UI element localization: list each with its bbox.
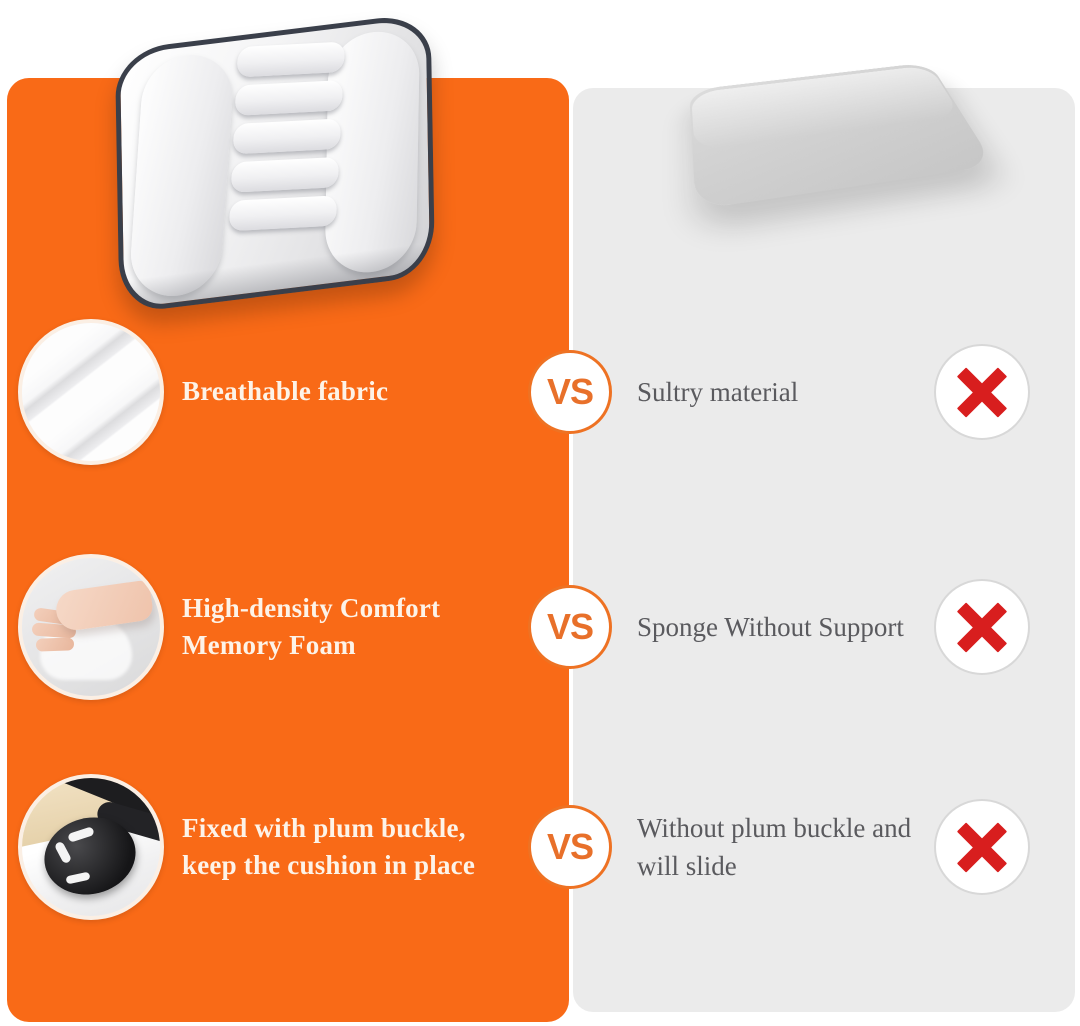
feature-thumbnail-memory-foam	[18, 554, 164, 700]
pro-feature-label: High-density Comfort Memory Foam	[182, 590, 522, 665]
comparison-infographic: Breathable fabric VS Sultry material Hig…	[0, 0, 1080, 1026]
con-feature-label: Sultry material	[637, 373, 927, 411]
pro-feature-label: Fixed with plum buckle, keep the cushion…	[182, 810, 522, 885]
vs-badge: VS	[528, 805, 612, 889]
feature-thumbnail-plum-buckle	[18, 774, 164, 920]
feature-thumbnail-breathable-fabric	[18, 319, 164, 465]
pro-feature-label: Breathable fabric	[182, 373, 522, 410]
comparison-row: Fixed with plum buckle, keep the cushion…	[0, 767, 1080, 927]
comparison-row: High-density Comfort Memory Foam VS Spon…	[0, 547, 1080, 707]
cushion-quilt-channels	[228, 42, 345, 246]
con-feature-label: Without plum buckle and will slide	[637, 809, 927, 886]
cross-icon	[934, 799, 1030, 895]
con-feature-label: Sponge Without Support	[637, 608, 927, 646]
cushion-bolster-left	[128, 53, 236, 297]
vs-badge: VS	[528, 585, 612, 669]
product-image-plain-sponge	[672, 16, 992, 296]
vs-badge: VS	[528, 350, 612, 434]
cross-icon	[934, 579, 1030, 675]
comparison-row: Breathable fabric VS Sultry material	[0, 312, 1080, 472]
product-image-quilted-cushion	[88, 6, 478, 336]
cross-icon	[934, 344, 1030, 440]
